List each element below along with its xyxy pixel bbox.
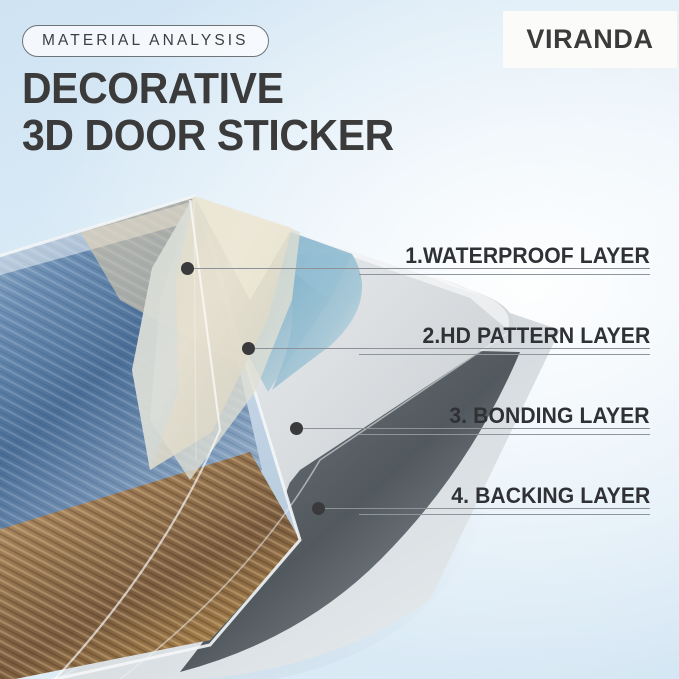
page-title: DECORATIVE 3D DOOR STICKER bbox=[22, 66, 394, 159]
leader-dot-bonding bbox=[290, 422, 303, 435]
callout-bonding-layer: 3. BONDING LAYER bbox=[359, 403, 650, 435]
callout-hd-pattern-layer: 2.HD PATTERN LAYER bbox=[359, 323, 650, 355]
brand-name: VIRANDA bbox=[526, 24, 653, 55]
callout-backing-layer: 4. BACKING LAYER bbox=[359, 483, 650, 515]
headline-line-2: 3D DOOR STICKER bbox=[22, 113, 394, 160]
poster-root: MATERIAL ANALYSIS VIRANDA DECORATIVE 3D … bbox=[0, 0, 679, 679]
callout-waterproof-layer: 1.WATERPROOF LAYER bbox=[359, 243, 650, 275]
callout-label-1: 1.WATERPROOF LAYER bbox=[405, 243, 650, 269]
brand-logo: VIRANDA bbox=[503, 11, 677, 68]
leader-dot-hd-pattern bbox=[242, 342, 255, 355]
headline-line-1: DECORATIVE bbox=[22, 64, 284, 113]
callout-label-4: 4. BACKING LAYER bbox=[451, 483, 650, 509]
callout-label-2: 2.HD PATTERN LAYER bbox=[422, 323, 650, 349]
callout-label-3: 3. BONDING LAYER bbox=[450, 403, 650, 429]
badge-label: MATERIAL ANALYSIS bbox=[42, 32, 249, 50]
leader-dot-waterproof bbox=[181, 262, 194, 275]
leader-dot-backing bbox=[312, 502, 325, 515]
material-analysis-badge: MATERIAL ANALYSIS bbox=[22, 25, 269, 57]
